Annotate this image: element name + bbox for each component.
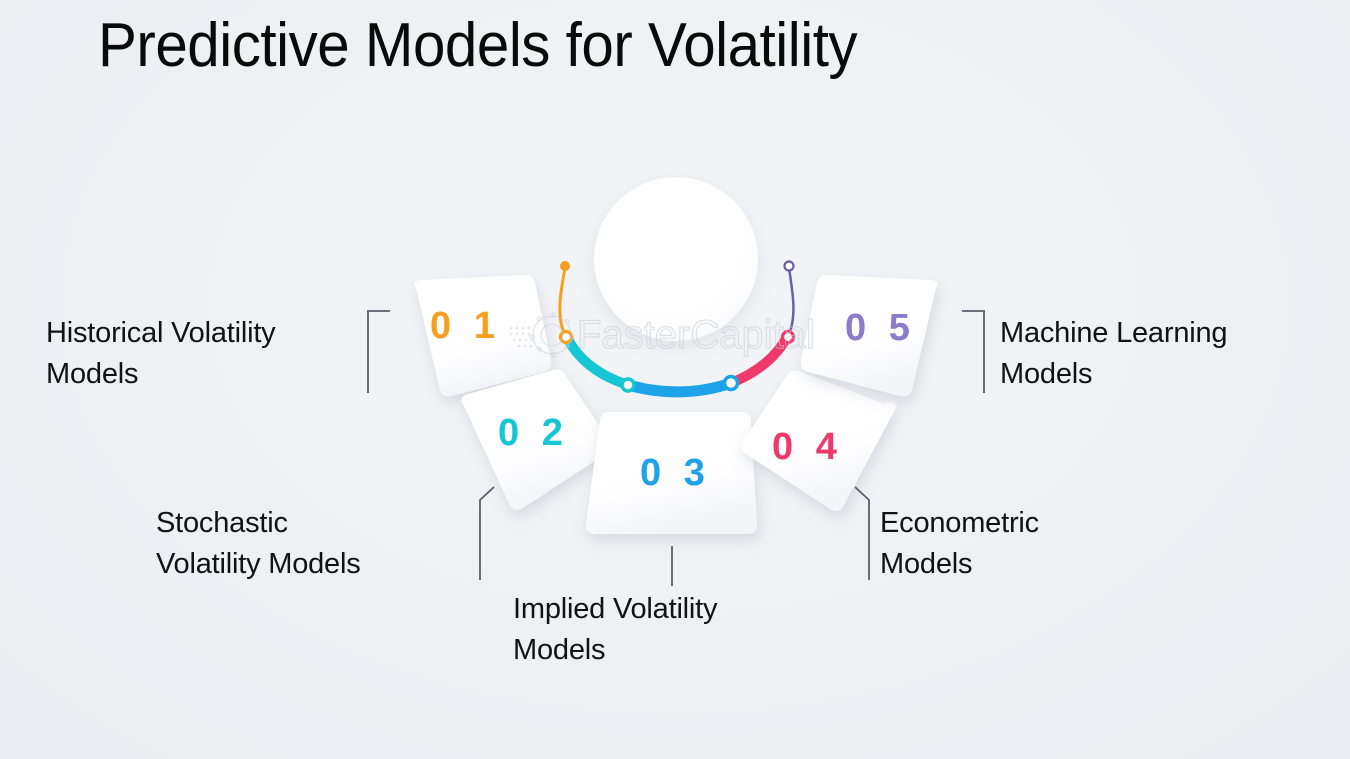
center-circle xyxy=(594,177,758,341)
label-stochastic-volatility-models: Stochastic Volatility Models xyxy=(156,503,456,585)
petal-number-02: 0 2 xyxy=(498,412,569,455)
arc-node-teal-blue xyxy=(622,379,634,391)
arc-segment-pink xyxy=(731,337,787,383)
arc-segment-teal xyxy=(567,337,628,385)
arc-segment-purple xyxy=(788,268,793,337)
arc-node-orange xyxy=(560,261,570,271)
connector-line-05 xyxy=(962,311,984,393)
connector-line-02 xyxy=(480,487,494,580)
label-historical-volatility-models: Historical Volatility Models xyxy=(46,313,366,395)
arc-segment-blue xyxy=(628,383,731,392)
arc-segment-orange xyxy=(560,268,566,337)
connector-line-01 xyxy=(368,311,390,393)
arc-node-orange-teal xyxy=(561,332,572,343)
arc-node-purple xyxy=(785,262,794,271)
arc-node-blue-pink xyxy=(725,377,738,390)
connector-line-04 xyxy=(855,487,869,580)
label-implied-volatility-models: Implied Volatility Models xyxy=(513,589,813,671)
arc-node-pink-purple xyxy=(783,332,794,343)
petal-number-05: 0 5 xyxy=(845,307,916,350)
petal-number-04: 0 4 xyxy=(772,426,843,469)
label-machine-learning-models: Machine Learning Models xyxy=(1000,313,1340,395)
petal-number-03: 0 3 xyxy=(640,452,711,495)
petal-number-01: 0 1 xyxy=(430,305,501,348)
slide-canvas: Predictive Models for Volatility xyxy=(0,0,1350,759)
label-econometric-models: Econometric Models xyxy=(880,503,1180,585)
